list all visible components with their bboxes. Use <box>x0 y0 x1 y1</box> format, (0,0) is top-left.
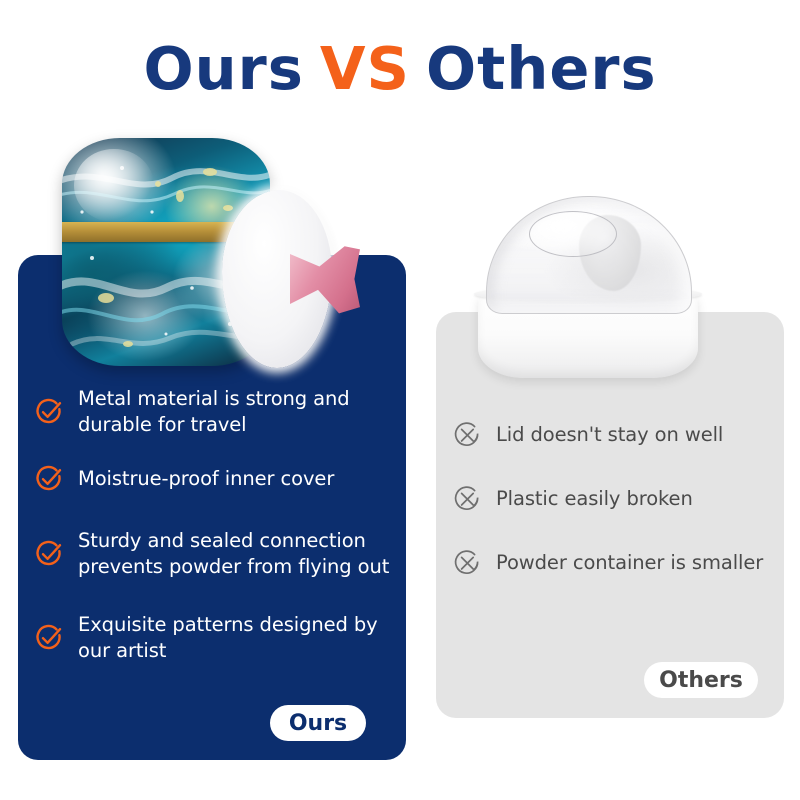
check-circle-icon <box>34 464 64 494</box>
list-item-label: Exquisite patterns designed by our artis… <box>78 612 394 664</box>
x-circle-icon <box>452 420 482 450</box>
others-badge: Others <box>644 662 758 698</box>
powder-puff <box>222 190 350 368</box>
title-ours: Ours <box>143 34 303 103</box>
list-item-label: Metal material is strong and durable for… <box>78 386 394 438</box>
check-circle-icon <box>34 539 64 569</box>
list-item-label: Moistrue-proof inner cover <box>78 466 334 492</box>
ours-product-image <box>62 138 402 380</box>
list-item-label: Powder container is smaller <box>496 550 763 576</box>
title-others: Others <box>426 34 657 103</box>
ours-feature-list: Metal material is strong and durable for… <box>34 386 394 686</box>
list-item-label: Lid doesn't stay on well <box>496 422 723 448</box>
check-circle-icon <box>34 397 64 427</box>
comparison-infographic: OursVSOthers <box>0 0 800 800</box>
check-circle-icon <box>34 623 64 653</box>
list-item: Exquisite patterns designed by our artis… <box>34 612 394 664</box>
list-item-label: Sturdy and sealed connection prevents po… <box>78 528 394 580</box>
list-item: Plastic easily broken <box>452 484 782 514</box>
list-item: Powder container is smaller <box>452 548 782 578</box>
clear-dome-lid <box>486 196 692 314</box>
ours-badge: Ours <box>270 705 366 741</box>
dome-highlight-ring <box>529 211 617 257</box>
jar-highlight <box>74 149 153 222</box>
list-item: Sturdy and sealed connection prevents po… <box>34 528 394 580</box>
x-circle-icon <box>452 484 482 514</box>
list-item: Lid doesn't stay on well <box>452 420 782 450</box>
list-item-label: Plastic easily broken <box>496 486 693 512</box>
list-item: Moistrue-proof inner cover <box>34 464 394 494</box>
others-feature-list: Lid doesn't stay on well Plastic easily … <box>452 420 782 612</box>
list-item: Metal material is strong and durable for… <box>34 386 394 438</box>
title-vs: VS <box>320 34 410 103</box>
x-circle-icon <box>452 548 482 578</box>
page-title: OursVSOthers <box>0 34 800 103</box>
others-product-image <box>470 196 706 378</box>
